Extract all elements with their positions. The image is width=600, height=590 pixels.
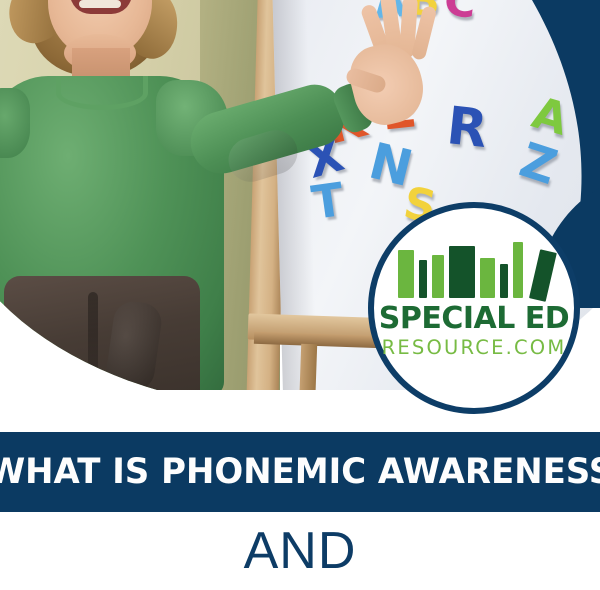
book-spine (480, 258, 495, 298)
book-spine (529, 249, 557, 302)
magnet-letter-c: C (441, 0, 479, 26)
book-stack-icon (398, 242, 558, 298)
lower-teeth (79, 0, 121, 8)
book-spine (513, 242, 523, 298)
book-spine (398, 250, 414, 298)
banner-title-text: WHAT IS PHONEMIC AWARENESS (0, 452, 600, 492)
book-spine (500, 264, 508, 298)
book-spine (449, 246, 475, 298)
girl-figure (0, 0, 320, 410)
logo-wordmark: SPECIAL ED RESOURCE.COM (374, 304, 574, 358)
shirt-collar (56, 76, 148, 110)
book-spine (432, 255, 444, 298)
graphic-canvas: ABCKERXNTSAZ (0, 0, 600, 590)
book-spine (419, 260, 427, 298)
brown-pants (4, 276, 200, 408)
subtitle-area: AND (0, 512, 600, 590)
subtitle-text: AND (244, 521, 357, 581)
logo-line-2: RESOURCE.COM (374, 338, 574, 358)
logo-line-1: SPECIAL ED (374, 304, 574, 334)
logo-badge[interactable]: SPECIAL ED RESOURCE.COM (368, 202, 580, 414)
title-banner: WHAT IS PHONEMIC AWARENESS (0, 432, 600, 512)
